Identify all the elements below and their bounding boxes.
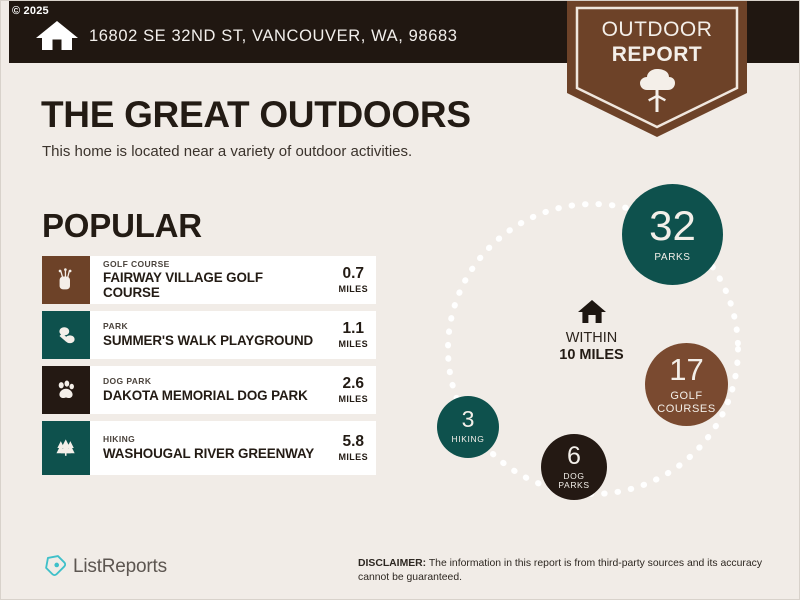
hiking-count: 3 <box>462 408 475 431</box>
parks-label: PARKS <box>654 252 690 264</box>
within-label: WITHIN <box>529 330 654 347</box>
house-icon <box>577 299 607 324</box>
stat-bubble-hiking[interactable]: 3 HIKING <box>437 396 499 458</box>
badge-label: OUTDOOR REPORT <box>567 17 747 67</box>
list-item-body: PARK SUMMER'S WALK PLAYGROUND 1.1 MILES <box>90 311 376 359</box>
list-item-distance: 2.6 MILES <box>334 376 368 404</box>
outdoor-report-page: © 2025 16802 SE 32ND ST, VANCOUVER, WA, … <box>0 0 800 600</box>
golf-label-line-1: GOLF <box>657 390 716 403</box>
listreports-house-icon <box>43 553 66 581</box>
popular-heading: POPULAR <box>42 207 202 245</box>
popular-list: GOLF COURSE FAIRWAY VILLAGE GOLF COURSE … <box>42 256 376 482</box>
list-item-body: HIKING WASHOUGAL RIVER GREENWAY 5.8 MILE… <box>90 421 376 475</box>
list-item-distance: 1.1 MILES <box>334 321 368 349</box>
distance-unit: MILES <box>338 452 368 462</box>
parks-count: 32 <box>649 205 696 247</box>
list-item-name: FAIRWAY VILLAGE GOLF COURSE <box>103 270 318 300</box>
disclaimer-label: DISCLAIMER: <box>358 558 426 569</box>
paw-icon <box>42 366 90 414</box>
hiking-label: HIKING <box>452 434 485 446</box>
list-item-labels: DOG PARK DAKOTA MEMORIAL DOG PARK <box>103 377 308 403</box>
outdoor-report-badge: OUTDOOR REPORT <box>567 1 747 137</box>
badge-line-2: REPORT <box>567 42 747 67</box>
distance-value: 1.1 <box>338 321 368 337</box>
within-10-miles-diagram: 32 PARKS 17 GOLF COURSES 6 DOG PARKS 3 H… <box>411 171 791 521</box>
badge-line-1: OUTDOOR <box>567 17 747 42</box>
listreports-logo[interactable]: ListReports <box>43 553 167 581</box>
golf-bag-icon <box>42 256 90 304</box>
tree-icon <box>42 311 90 359</box>
distance-unit: MILES <box>338 394 368 404</box>
page-subtitle: This home is located near a variety of o… <box>42 143 412 160</box>
pine-trees-icon <box>42 421 90 475</box>
stat-bubble-dog-parks[interactable]: 6 DOG PARKS <box>541 434 607 500</box>
list-item-category: GOLF COURSE <box>103 260 318 270</box>
list-item[interactable]: DOG PARK DAKOTA MEMORIAL DOG PARK 2.6 MI… <box>42 366 376 414</box>
distance-unit: MILES <box>338 284 368 294</box>
distance-value: 2.6 <box>338 376 368 392</box>
list-item-distance: 0.7 MILES <box>334 266 368 294</box>
dog-parks-count: 6 <box>567 444 581 469</box>
disclaimer: DISCLAIMER: The information in this repo… <box>358 557 778 585</box>
list-item-name: SUMMER'S WALK PLAYGROUND <box>103 333 313 348</box>
list-item[interactable]: PARK SUMMER'S WALK PLAYGROUND 1.1 MILES <box>42 311 376 359</box>
copyright-text: © 2025 <box>12 5 49 17</box>
list-item-body: DOG PARK DAKOTA MEMORIAL DOG PARK 2.6 MI… <box>90 366 376 414</box>
golf-label-line-2: COURSES <box>657 403 716 416</box>
listreports-wordmark: ListReports <box>73 556 167 578</box>
dog-label-line-2: PARKS <box>558 481 589 491</box>
stat-bubble-golf-courses[interactable]: 17 GOLF COURSES <box>645 343 728 426</box>
list-item-category: HIKING <box>103 435 314 445</box>
golf-count: 17 <box>669 354 703 385</box>
list-item-distance: 5.8 MILES <box>334 434 368 462</box>
distance-value: 5.8 <box>338 434 368 450</box>
dog-parks-label: DOG PARKS <box>558 472 589 491</box>
list-item-labels: GOLF COURSE FAIRWAY VILLAGE GOLF COURSE <box>103 260 318 301</box>
miles-label: 10 MILES <box>529 347 654 364</box>
list-item-labels: HIKING WASHOUGAL RIVER GREENWAY <box>103 435 314 461</box>
house-icon <box>35 19 79 51</box>
list-item-category: PARK <box>103 322 313 332</box>
golf-label: GOLF COURSES <box>657 390 716 415</box>
page-title: THE GREAT OUTDOORS <box>41 94 471 136</box>
stat-bubble-parks[interactable]: 32 PARKS <box>622 184 723 285</box>
list-item-body: GOLF COURSE FAIRWAY VILLAGE GOLF COURSE … <box>90 256 376 304</box>
distance-unit: MILES <box>338 339 368 349</box>
list-item-category: DOG PARK <box>103 377 308 387</box>
list-item[interactable]: HIKING WASHOUGAL RIVER GREENWAY 5.8 MILE… <box>42 421 376 475</box>
diagram-center: WITHIN 10 MILES <box>529 299 654 364</box>
list-item-name: DAKOTA MEMORIAL DOG PARK <box>103 388 308 403</box>
distance-value: 0.7 <box>338 266 368 282</box>
list-item-name: WASHOUGAL RIVER GREENWAY <box>103 446 314 461</box>
property-address: 16802 SE 32ND ST, VANCOUVER, WA, 98683 <box>89 27 458 46</box>
list-item[interactable]: GOLF COURSE FAIRWAY VILLAGE GOLF COURSE … <box>42 256 376 304</box>
list-item-labels: PARK SUMMER'S WALK PLAYGROUND <box>103 322 313 348</box>
